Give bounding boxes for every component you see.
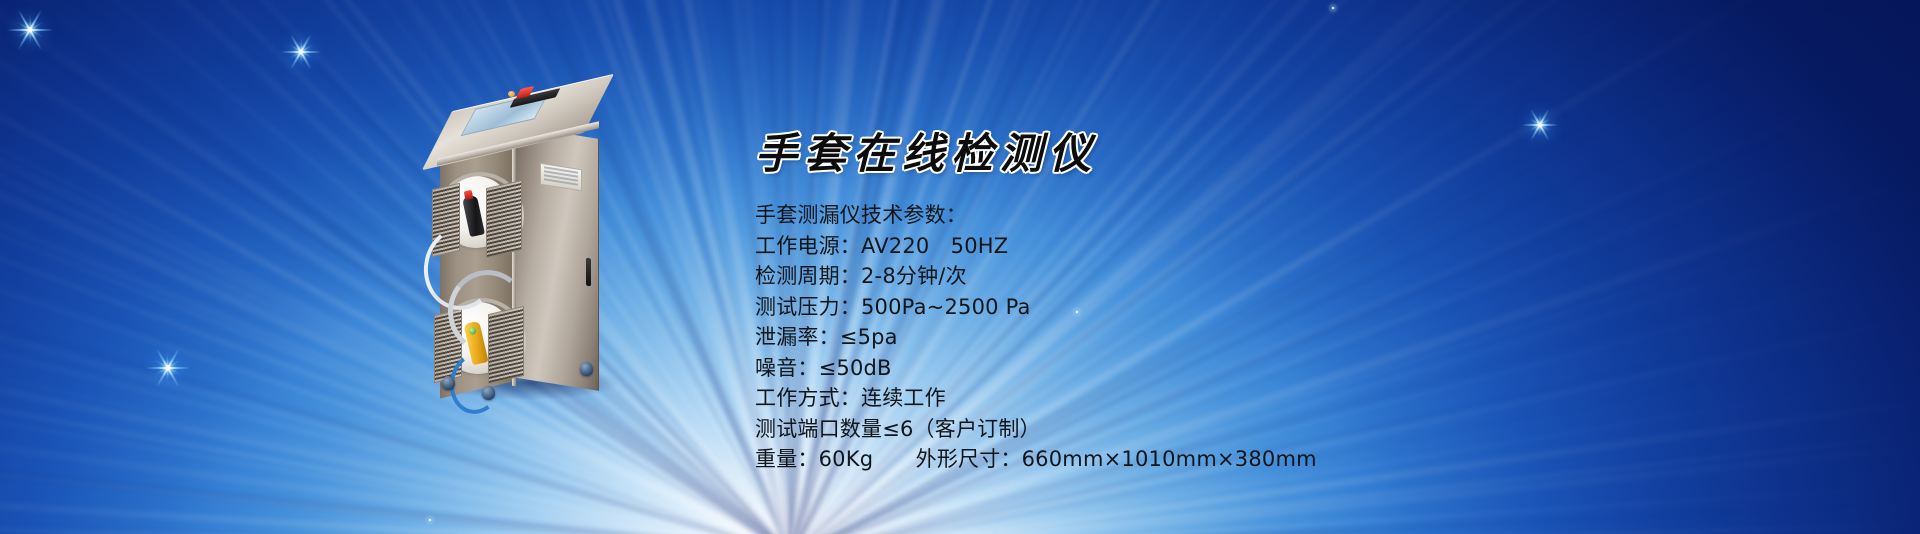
caster-rear-right (580, 362, 593, 376)
spec-line: 测试压力：500Pa~2500 Pa (755, 292, 1515, 323)
product-image-glove-leak-tester: 1 2 (420, 80, 620, 400)
spec-line: 工作方式：连续工作 (755, 383, 1515, 414)
product-banner: 1 2 手套在线检测仪 手套测漏仪技术参数： 工作电源：AV220 50HZ 检… (0, 0, 1920, 534)
spec-line: 检测周期：2-8分钟/次 (755, 261, 1515, 292)
spec-line: 手套测漏仪技术参数： (755, 200, 1515, 231)
spec-line: 工作电源：AV220 50HZ (755, 231, 1515, 262)
caster-front-right (482, 386, 495, 400)
caster-front-left (442, 376, 455, 390)
spec-list: 手套测漏仪技术参数： 工作电源：AV220 50HZ 检测周期：2-8分钟/次 … (755, 200, 1515, 475)
spec-line: 测试端口数量≤6（客户订制） (755, 414, 1515, 445)
spec-line: 泄漏率：≤5pa (755, 322, 1515, 353)
page-title: 手套在线检测仪 (755, 120, 1098, 181)
spec-line: 重量：60Kg 外形尺寸：660mm×1010mm×380mm (755, 444, 1515, 475)
cabinet-door-handle (586, 258, 591, 287)
spec-line: 噪音：≤50dB (755, 353, 1515, 384)
indicator-lamp (508, 91, 515, 97)
